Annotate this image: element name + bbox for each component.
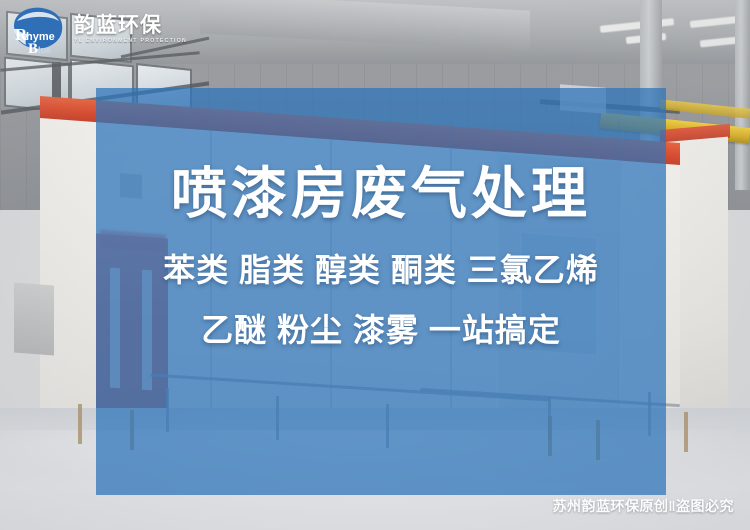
subtitle-line-1: 苯类 脂类 醇类 酮类 三氯乙烯 [163, 254, 599, 286]
booth-support-leg [684, 412, 688, 452]
subtitle-line-2: 乙醚 粉尘 漆雾 一站搞定 [201, 314, 561, 346]
control-cabinet [14, 283, 54, 356]
company-name-en: YL ENVIRONMENT PROTECTION [74, 39, 187, 44]
svg-text:lue: lue [38, 45, 51, 55]
brand-header[interactable]: R hyme B lue 韵蓝环保 YL ENVIRONMENT PROTECT… [0, 0, 180, 60]
headline-block: 喷漆房废气处理 苯类 脂类 醇类 酮类 三氯乙烯 乙醚 粉尘 漆雾 一站搞定 [96, 88, 666, 495]
svg-text:B: B [28, 41, 38, 56]
brand-wordmark: 韵蓝环保 YL ENVIRONMENT PROTECTION [74, 15, 187, 44]
company-name-cn: 韵蓝环保 [74, 15, 187, 36]
steel-column [735, 0, 750, 190]
page-title: 喷漆房废气处理 [171, 166, 591, 222]
rhyme-blue-logo-icon[interactable]: R hyme B lue [6, 4, 68, 56]
copyright-watermark: 苏州韵蓝环保原创‖盗图必究 [553, 496, 734, 516]
booth-support-leg [78, 404, 82, 444]
promo-banner: R hyme B lue 韵蓝环保 YL ENVIRONMENT PROTECT… [0, 0, 750, 530]
